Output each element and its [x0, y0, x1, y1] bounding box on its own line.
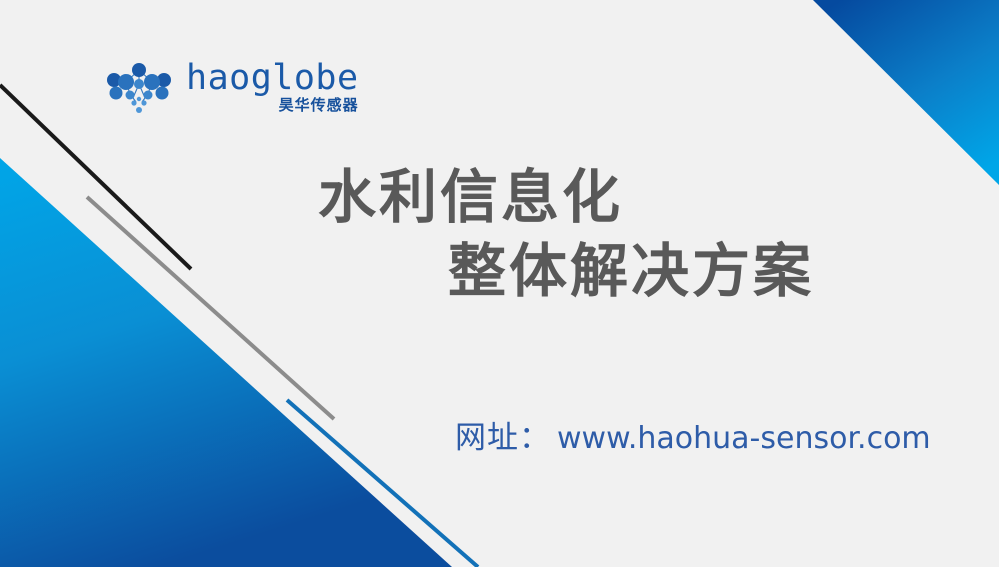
website-line: 网址： www.haohua-sensor.com: [455, 418, 931, 459]
logo-text-group: haoglobe 昊华传感器: [186, 58, 359, 114]
molecule-network-logo-icon: [100, 58, 178, 116]
presentation-slide: haoglobe 昊华传感器 水利信息化 整体解决方案 网址： www.haoh…: [0, 0, 999, 567]
company-logo: haoglobe 昊华传感器: [100, 58, 359, 116]
website-label: 网址：: [455, 418, 551, 458]
logo-chinese-subtitle: 昊华传感器: [279, 97, 359, 114]
website-url[interactable]: www.haohua-sensor.com: [557, 419, 931, 459]
logo-wordmark: haoglobe: [186, 60, 359, 96]
